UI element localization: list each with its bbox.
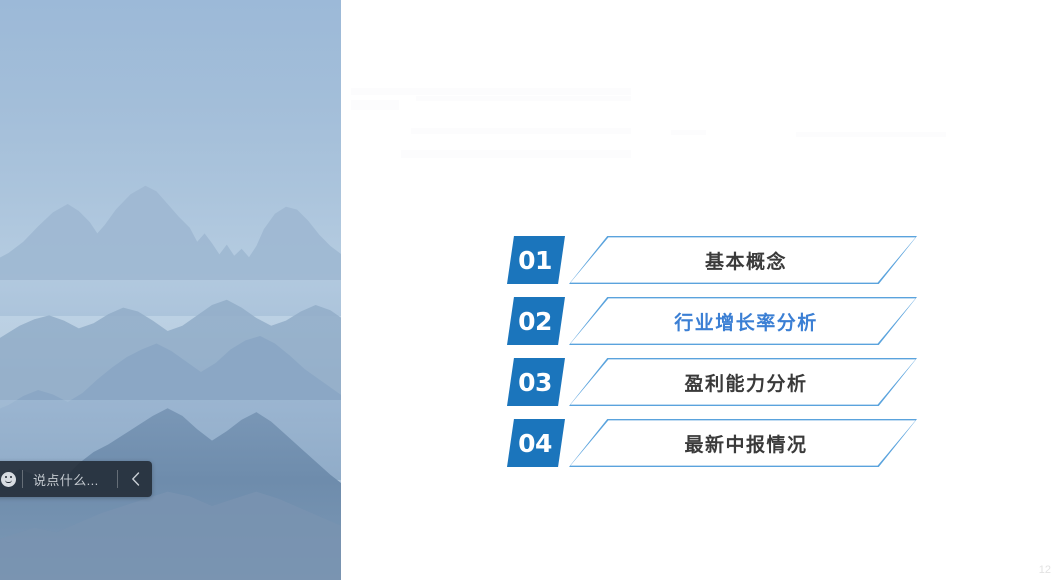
agenda-label: 行业增长率分析 (674, 308, 818, 335)
chevron-left-icon (131, 472, 140, 486)
smiley-face-icon (1, 472, 16, 487)
agenda-bar[interactable]: 基本概念 (569, 236, 917, 284)
agenda-number: 04 (518, 429, 552, 458)
agenda-label: 盈利能力分析 (684, 369, 807, 396)
agenda-bar[interactable]: 行业增长率分析 (569, 297, 917, 345)
mountain-ridge-far (0, 176, 341, 316)
slide-page-number: 12 (1039, 564, 1051, 576)
ghost-artifact (416, 96, 631, 101)
ghost-artifact (411, 128, 631, 134)
ghost-artifact (796, 132, 946, 137)
agenda-label: 基本概念 (705, 247, 787, 274)
agenda-item[interactable]: 02 行业增长率分析 (507, 294, 917, 355)
smiley-mouth (5, 480, 12, 483)
agenda-bar[interactable]: 最新中报情况 (569, 419, 917, 467)
ghost-artifact (401, 150, 631, 158)
agenda-item[interactable]: 04 最新中报情况 (507, 416, 917, 477)
agenda-label: 最新中报情况 (684, 430, 807, 457)
agenda-number: 02 (518, 307, 552, 336)
ghost-artifact (351, 100, 399, 110)
chat-input-bar[interactable]: 说点什么... (0, 461, 152, 497)
presentation-slide[interactable]: 01 基本概念 02 行业增长率分析 03 (341, 0, 1060, 580)
ghost-artifact (351, 88, 631, 95)
agenda-item[interactable]: 03 盈利能力分析 (507, 355, 917, 416)
agenda-number-badge: 04 (507, 419, 565, 467)
agenda-item[interactable]: 01 基本概念 (507, 233, 917, 294)
chat-collapse-button[interactable] (118, 461, 152, 497)
agenda-list: 01 基本概念 02 行业增长率分析 03 (507, 233, 917, 477)
agenda-number-badge: 02 (507, 297, 565, 345)
agenda-number: 03 (518, 368, 552, 397)
emoji-picker-button[interactable] (0, 461, 22, 497)
video-panel[interactable]: 说点什么... (0, 0, 341, 580)
agenda-number-badge: 03 (507, 358, 565, 406)
agenda-bar[interactable]: 盈利能力分析 (569, 358, 917, 406)
chat-message-input[interactable]: 说点什么... (23, 470, 117, 489)
ghost-artifact (671, 130, 706, 135)
screen-root: 说点什么... 01 基本概念 (0, 0, 1060, 580)
agenda-number: 01 (518, 246, 552, 275)
agenda-number-badge: 01 (507, 236, 565, 284)
